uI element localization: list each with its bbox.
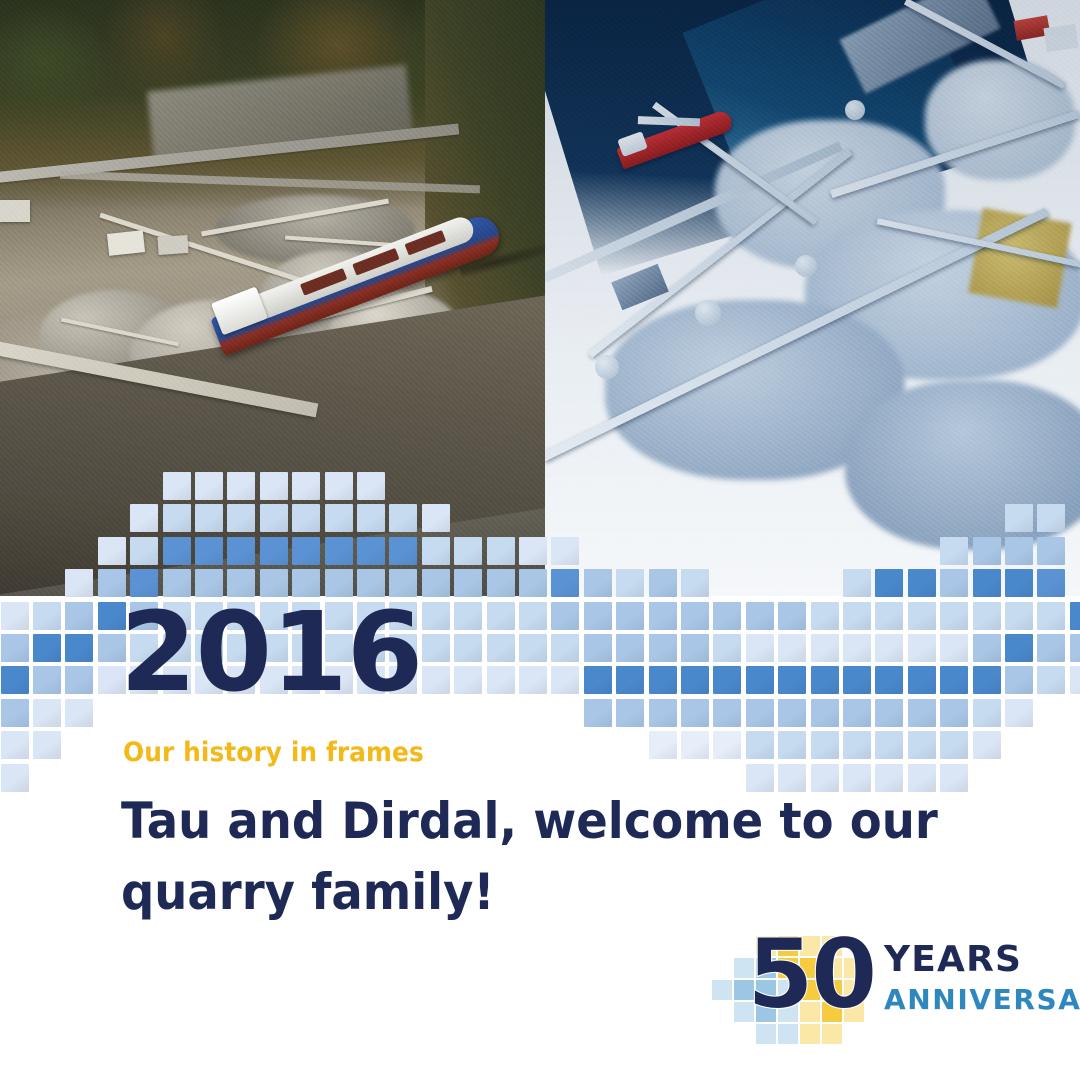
mosaic-tile — [649, 602, 677, 630]
mosaic-tile — [65, 602, 93, 630]
logo-years-label: YEARS — [884, 942, 1022, 978]
mosaic-tile — [940, 699, 968, 727]
mosaic-tile — [1005, 666, 1033, 694]
logo-mosaic-tile — [712, 980, 732, 1000]
poster-canvas: 2016 Our history in frames Tau and Dirda… — [0, 0, 1080, 1080]
mosaic-tile — [33, 602, 61, 630]
mosaic-tile — [33, 699, 61, 727]
mosaic-tile — [1005, 634, 1033, 662]
mosaic-tile — [616, 634, 644, 662]
mosaic-tile — [973, 666, 1001, 694]
mosaic-tile — [908, 666, 936, 694]
mosaic-tile — [746, 634, 774, 662]
mosaic-tile — [681, 666, 709, 694]
mosaic-tile — [681, 602, 709, 630]
mosaic-tile — [65, 666, 93, 694]
mosaic-tile — [843, 634, 871, 662]
mosaic-tile — [487, 634, 515, 662]
mosaic-tile — [681, 699, 709, 727]
mosaic-tile — [746, 699, 774, 727]
mosaic-tile — [908, 634, 936, 662]
mosaic-tile — [875, 634, 903, 662]
mosaic-tile — [454, 634, 482, 662]
mosaic-tile — [908, 731, 936, 759]
mosaic-tile — [811, 634, 839, 662]
mosaic-tile — [649, 731, 677, 759]
mosaic-tile — [649, 634, 677, 662]
mosaic-tile — [811, 666, 839, 694]
mosaic-tile — [551, 602, 579, 630]
year-label: 2016 — [120, 597, 422, 707]
mosaic-tile — [422, 634, 450, 662]
mosaic-tile — [713, 699, 741, 727]
mosaic-tile — [908, 602, 936, 630]
mosaic-tile — [33, 634, 61, 662]
mosaic-tile — [973, 602, 1001, 630]
mosaic-tile — [551, 634, 579, 662]
mosaic-tile — [1, 602, 29, 630]
mosaic-tile — [908, 699, 936, 727]
mosaic-tile — [973, 634, 1001, 662]
mosaic-tile — [746, 602, 774, 630]
mosaic-tile — [422, 602, 450, 630]
mosaic-tile — [713, 602, 741, 630]
mosaic-tile — [649, 699, 677, 727]
mosaic-tile — [65, 699, 93, 727]
mosaic-tile — [940, 602, 968, 630]
mosaic-tile — [1037, 666, 1065, 694]
mosaic-tile — [778, 634, 806, 662]
mosaic-tile — [519, 634, 547, 662]
mosaic-tile — [973, 731, 1001, 759]
mosaic-tile — [843, 731, 871, 759]
mosaic-tile — [454, 666, 482, 694]
mosaic-tile — [1, 764, 29, 792]
mosaic-tile — [713, 634, 741, 662]
mosaic-tile — [1070, 602, 1080, 630]
mosaic-tile — [746, 666, 774, 694]
mosaic-tile — [681, 731, 709, 759]
mosaic-tile — [713, 731, 741, 759]
mosaic-tile — [940, 731, 968, 759]
photo-grain — [0, 0, 545, 596]
mosaic-tile — [487, 666, 515, 694]
mosaic-tile — [778, 666, 806, 694]
mosaic-tile — [519, 602, 547, 630]
photo-quarry-harbour-ship — [0, 0, 545, 596]
mosaic-tile — [843, 602, 871, 630]
mosaic-tile — [33, 731, 61, 759]
anniversary-logo: 50 YEARS ANNIVERSARY — [712, 930, 1052, 1040]
mosaic-tile — [778, 731, 806, 759]
mosaic-tile — [940, 634, 968, 662]
mosaic-tile — [616, 699, 644, 727]
logo-anniversary-label: ANNIVERSARY — [884, 986, 1080, 1014]
mosaic-tile — [811, 602, 839, 630]
mosaic-tile — [875, 731, 903, 759]
mosaic-tile — [616, 602, 644, 630]
mosaic-tile — [1005, 699, 1033, 727]
mosaic-tile — [1070, 666, 1080, 694]
mosaic-tile — [713, 666, 741, 694]
mosaic-tile — [1, 666, 29, 694]
photo-band — [0, 0, 1080, 596]
mosaic-tile — [811, 699, 839, 727]
mosaic-tile — [1, 699, 29, 727]
mosaic-tile — [875, 699, 903, 727]
mosaic-tile — [811, 731, 839, 759]
mosaic-tile — [584, 602, 612, 630]
mosaic-tile — [875, 602, 903, 630]
mosaic-tile — [940, 666, 968, 694]
mosaic-tile — [843, 699, 871, 727]
mosaic-tile — [65, 634, 93, 662]
mosaic-tile — [487, 602, 515, 630]
mosaic-tile — [584, 634, 612, 662]
mosaic-tile — [1037, 602, 1065, 630]
mosaic-tile — [875, 666, 903, 694]
mosaic-tile — [778, 602, 806, 630]
mosaic-tile — [843, 666, 871, 694]
mosaic-tile — [1, 634, 29, 662]
mosaic-tile — [746, 731, 774, 759]
mosaic-tile — [616, 666, 644, 694]
mosaic-tile — [1070, 634, 1080, 662]
headline: Tau and Dirdal, welcome to our quarry fa… — [121, 786, 958, 928]
mosaic-tile — [584, 699, 612, 727]
mosaic-tile — [519, 666, 547, 694]
mosaic-tile — [973, 699, 1001, 727]
mosaic-tile — [681, 634, 709, 662]
mosaic-tile — [1, 731, 29, 759]
mosaic-tile — [649, 666, 677, 694]
mosaic-tile — [778, 699, 806, 727]
photo-sand-terminal-aerial — [545, 0, 1080, 596]
mosaic-tile — [551, 666, 579, 694]
mosaic-tile — [1037, 634, 1065, 662]
mosaic-tile — [1005, 602, 1033, 630]
mosaic-tile — [33, 666, 61, 694]
series-kicker: Our history in frames — [123, 737, 424, 768]
mosaic-tile — [422, 666, 450, 694]
photo-grain — [545, 0, 1080, 596]
logo-number: 50 — [747, 926, 875, 1022]
mosaic-tile — [454, 602, 482, 630]
mosaic-tile — [584, 666, 612, 694]
